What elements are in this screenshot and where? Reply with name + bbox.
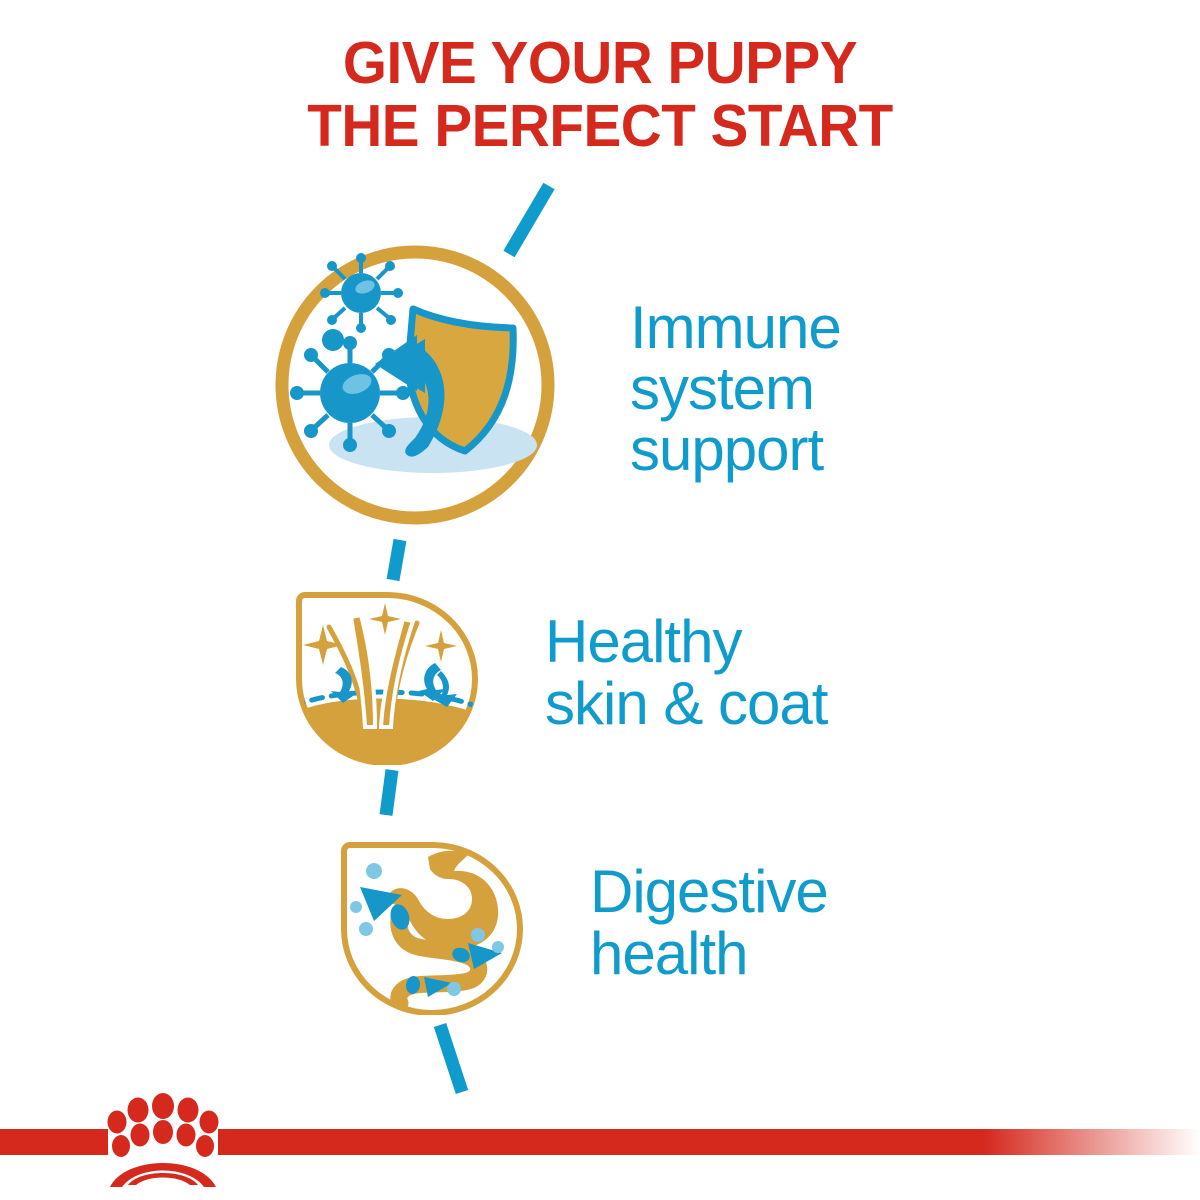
- title-line-2: THE PERFECT START: [24, 95, 1176, 158]
- digestive-health-icon: [330, 825, 530, 1020]
- benefit-row-skin: Healthy skin & coat: [285, 575, 827, 770]
- brand-bar-left-segment: [0, 1129, 108, 1155]
- benefit-label-skin: Healthy skin & coat: [545, 611, 827, 733]
- benefit-row-digest: Digestive health: [330, 825, 828, 1020]
- title-line-1: GIVE YOUR PUPPY: [24, 32, 1176, 95]
- royal-canin-crown-logo: [100, 1093, 226, 1193]
- benefit-label-immune: Immune system support: [630, 297, 841, 481]
- immune-shield-icon: [265, 235, 565, 540]
- skin-coat-icon: [285, 575, 485, 770]
- benefit-label-digest: Digestive health: [590, 861, 828, 983]
- page-title: GIVE YOUR PUPPY THE PERFECT START: [0, 32, 1200, 157]
- brand-bar-right-segment: [218, 1129, 1200, 1155]
- benefit-row-immune: Immune system support: [265, 235, 841, 540]
